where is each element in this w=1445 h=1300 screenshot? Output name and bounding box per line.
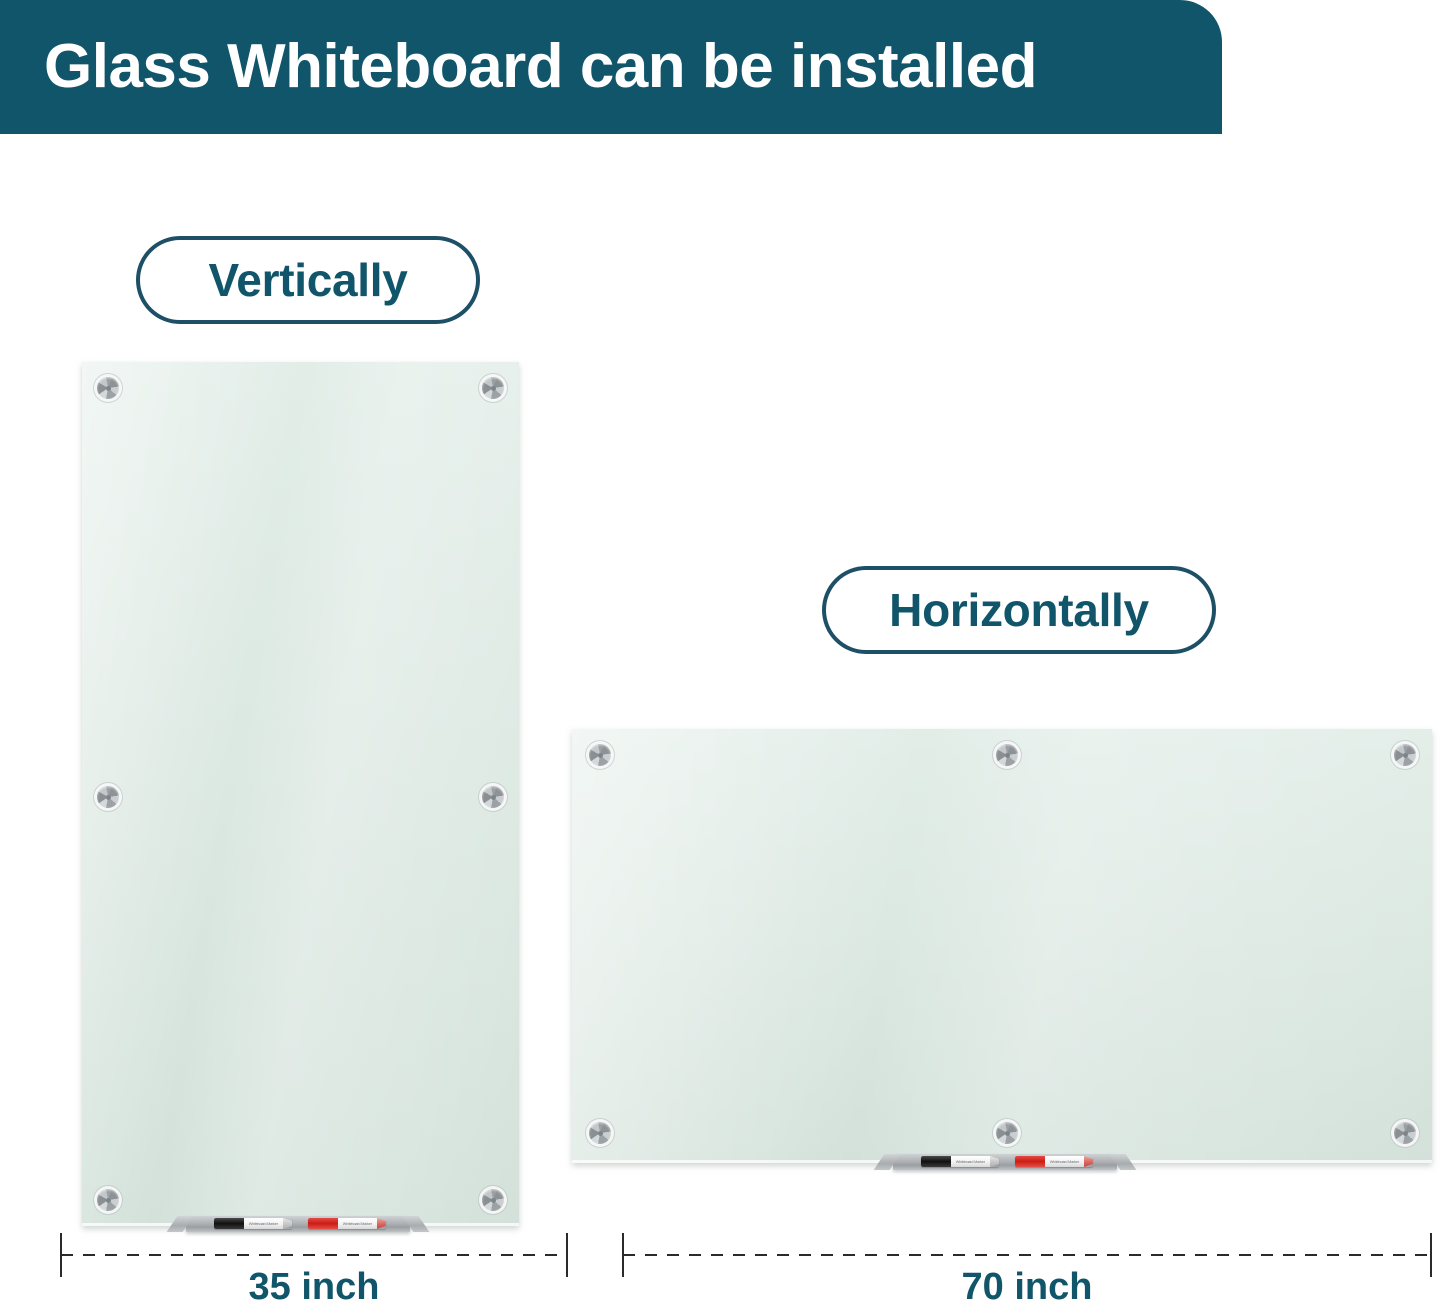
mounting-screw-icon — [482, 377, 504, 399]
marker-red: Whiteboard Marker — [1015, 1156, 1093, 1167]
marker-cap-black — [921, 1156, 951, 1167]
marker-cap-red — [308, 1218, 338, 1229]
dimension-label-vertical: 35 inch — [60, 1266, 568, 1300]
marker-brand-label: Whiteboard Marker — [1050, 1160, 1079, 1164]
marker-cap-red — [1015, 1156, 1045, 1167]
header-banner: Glass Whiteboard can be installed — [0, 0, 1222, 134]
mounting-screw-icon — [482, 786, 504, 808]
mounting-screw-icon — [589, 744, 611, 766]
badge-vertically: Vertically — [136, 236, 480, 324]
badge-horizontally-label: Horizontally — [889, 583, 1149, 637]
marker-barrel: Whiteboard Marker — [1045, 1156, 1084, 1167]
marker-brand-label: Whiteboard Marker — [249, 1222, 278, 1226]
infographic-page: Glass Whiteboard can be installed Vertic… — [0, 0, 1445, 1300]
mounting-screw-icon — [97, 786, 119, 808]
marker-barrel: Whiteboard Marker — [951, 1156, 990, 1167]
marker-barrel: Whiteboard Marker — [338, 1218, 377, 1229]
mounting-screw-icon — [996, 744, 1018, 766]
mounting-screw-icon — [97, 1189, 119, 1211]
mounting-screw-icon — [97, 377, 119, 399]
marker-tip — [990, 1156, 999, 1167]
badge-horizontally: Horizontally — [822, 566, 1216, 654]
glass-whiteboard-vertical — [82, 362, 519, 1226]
marker-brand-label: Whiteboard Marker — [956, 1160, 985, 1164]
page-title: Glass Whiteboard can be installed — [44, 26, 1184, 108]
marker-cap-black — [214, 1218, 244, 1229]
mounting-screw-icon — [996, 1122, 1018, 1144]
marker-tip — [283, 1218, 292, 1229]
marker-tip — [1084, 1156, 1093, 1167]
marker-barrel: Whiteboard Marker — [244, 1218, 283, 1229]
glass-whiteboard-horizontal — [572, 729, 1432, 1163]
marker-red: Whiteboard Marker — [308, 1218, 386, 1229]
pen-tray-horizontal: Whiteboard Marker Whiteboard Marker — [893, 1154, 1117, 1170]
marker-black: Whiteboard Marker — [921, 1156, 999, 1167]
marker-black: Whiteboard Marker — [214, 1218, 292, 1229]
mounting-screw-icon — [1394, 744, 1416, 766]
mounting-screw-icon — [1394, 1122, 1416, 1144]
mounting-screw-icon — [589, 1122, 611, 1144]
pen-tray-vertical: Whiteboard Marker Whiteboard Marker — [186, 1216, 410, 1232]
dimension-dashed-line — [623, 1254, 1431, 1256]
marker-brand-label: Whiteboard Marker — [343, 1222, 372, 1226]
marker-tip — [377, 1218, 386, 1229]
dimension-dashed-line — [61, 1254, 567, 1256]
badge-vertically-label: Vertically — [208, 253, 407, 307]
mounting-screw-icon — [482, 1189, 504, 1211]
dimension-label-horizontal: 70 inch — [622, 1266, 1432, 1300]
